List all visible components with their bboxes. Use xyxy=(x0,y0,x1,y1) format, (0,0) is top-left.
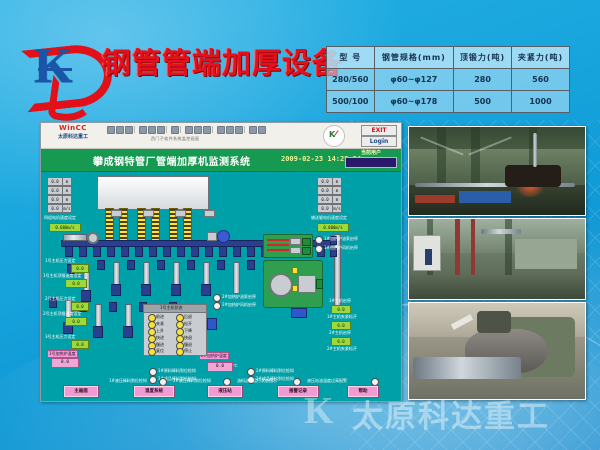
align-icon[interactable] xyxy=(226,126,234,134)
photo-workshop-heating-line xyxy=(408,126,586,216)
label-furnace1-temp: 1号加热炉温度 xyxy=(47,350,78,358)
toolbar-separator xyxy=(180,126,184,133)
value-main-press-2: 0.0 xyxy=(71,302,89,311)
bottom-lamp-label-3: 油料油泵运行状态指示 xyxy=(237,378,277,384)
label-machine2-start: 2#主机启停 xyxy=(329,330,351,336)
pump-indicator xyxy=(292,267,298,274)
gauge-letter: K xyxy=(329,130,335,139)
right-value-1: 0.0 xyxy=(317,177,333,186)
bottom-lamp-label-2: 2#液压棒料到位检知 xyxy=(173,378,211,384)
motor-base xyxy=(207,232,217,241)
hmi-system-title: 攀成钢特管厂管端加厚机监测系统 xyxy=(93,153,251,168)
cylinder-foot xyxy=(93,326,103,338)
photo-pipe-end-upset-closeup xyxy=(408,302,586,400)
lamp-raw-position-1[interactable] xyxy=(149,368,157,376)
cell-model: 500/100 xyxy=(327,91,375,113)
hmi-toolbar: WinCC 太原科达重工 xyxy=(41,123,401,149)
coil-tag xyxy=(143,210,154,217)
lamp-furnace2-fan[interactable] xyxy=(213,302,221,310)
lamp-furnace2-pump[interactable] xyxy=(213,294,221,302)
manifold-line xyxy=(267,244,289,246)
cut-icon[interactable] xyxy=(139,126,147,134)
left-unit-1: m xyxy=(62,177,72,186)
label-furnace2-fan: 2#加热炉风机启停 xyxy=(222,302,256,308)
hydraulic-cylinder xyxy=(233,262,240,294)
valve-block xyxy=(217,260,225,270)
left-value-2: 0.0 xyxy=(47,186,63,195)
pump-outlet xyxy=(316,279,323,289)
lamp-finished-position-1[interactable] xyxy=(149,376,157,384)
unit-furnace2-temp: ℃ xyxy=(233,363,238,369)
wincc-wordmark: WinCC xyxy=(44,124,102,133)
panel-row-1-b: 松开 xyxy=(184,321,192,327)
panel-row-0-b: 后退 xyxy=(184,314,192,320)
cylinder-foot xyxy=(81,290,91,302)
th-model: 型 号 xyxy=(327,47,375,69)
furnace-vessel xyxy=(97,176,209,210)
left-value-3: 0.0 xyxy=(47,195,63,204)
valve-block xyxy=(109,302,117,312)
valve-block xyxy=(247,260,255,270)
cell-upset-force: 500 xyxy=(454,91,512,113)
bottom-lamp-label-1: 1#液压棒料到位检知 xyxy=(109,378,147,384)
cell-model: 280/560 xyxy=(327,69,375,91)
drive-motor xyxy=(217,230,230,243)
lamp-furnace1-pump[interactable] xyxy=(315,236,323,244)
left-panel-label: 四组电机速度设定 xyxy=(44,215,76,221)
hmi-scada-screenshot: WinCC 太原科达重工 xyxy=(40,122,402,402)
panel-row-2-a: 上升 xyxy=(156,328,164,334)
cylinder-foot xyxy=(201,284,211,296)
login-button[interactable]: Login xyxy=(361,136,397,147)
left-panel-value: 0.000m/s xyxy=(49,223,81,232)
cylinder-foot xyxy=(141,284,151,296)
left-value-1: 0.0 xyxy=(47,177,63,186)
toolbar-separator xyxy=(244,126,248,133)
pump-indicator xyxy=(292,285,298,292)
roller-support xyxy=(93,246,101,257)
value-machine2: 0.0 xyxy=(331,321,351,330)
manifold-line xyxy=(267,239,289,241)
hmi-title-bar: 攀成钢特管厂管端加厚机监测系统 2009-02-23 14:29:24 当前用户 xyxy=(41,149,401,172)
current-user-label: 当前用户 xyxy=(345,149,397,157)
value-furnace1-temp: 0.0 xyxy=(51,358,79,368)
specification-table: 型 号 钢管规格(mm) 顶锻力(吨) 夹紧力(吨) 280/560 φ60~φ… xyxy=(326,46,570,113)
exit-button[interactable]: EXIT xyxy=(361,125,397,136)
panel-title: 1号主机状态 xyxy=(160,305,183,311)
manifold-line xyxy=(267,249,289,251)
roller-support xyxy=(247,246,255,257)
value-upset-speed-2: 0.0 xyxy=(65,317,87,326)
th-clamp-force: 夹紧力(吨) xyxy=(512,47,570,69)
bottom-lamp-label-4: 液压站油温度过高报警 xyxy=(307,378,347,384)
roller-support xyxy=(177,246,185,257)
manifold-port xyxy=(302,238,311,246)
coil-tag xyxy=(111,210,122,217)
pump-wheel xyxy=(269,273,293,297)
panel-row-5-a: 复位 xyxy=(156,348,164,354)
nav-button-temp[interactable]: 温度系统 xyxy=(133,385,175,398)
right-unit-2: m xyxy=(332,186,342,195)
company-logo-icon: K xyxy=(18,28,102,94)
valve-block xyxy=(97,260,105,270)
print-icon[interactable] xyxy=(125,126,133,134)
right-unit-1: m xyxy=(332,177,342,186)
cylinder-foot xyxy=(123,326,133,338)
toolbar-separator xyxy=(166,126,170,133)
right-panel-value: 0.000m/s xyxy=(317,223,349,232)
cell-clamp-force: 1000 xyxy=(512,91,570,113)
panel-row-3-b: 快退 xyxy=(184,335,192,341)
paste-icon[interactable] xyxy=(157,126,165,134)
valve-block xyxy=(187,260,195,270)
toolbar-caption: 西门子软件系统监控画面 xyxy=(151,136,199,142)
open-icon[interactable] xyxy=(107,126,115,134)
text-icon[interactable] xyxy=(185,126,193,134)
roller-support xyxy=(205,246,213,257)
roller-support xyxy=(65,246,73,257)
value-machine1: 0.0 xyxy=(331,305,351,314)
cell-upset-force: 280 xyxy=(454,69,512,91)
left-unit-4: m/s xyxy=(62,204,72,213)
coil-tag xyxy=(204,210,215,217)
roller-support xyxy=(219,246,227,257)
left-unit-2: m xyxy=(62,186,72,195)
panel-row-5-b: 停止 xyxy=(184,348,192,354)
th-upset-force: 顶锻力(吨) xyxy=(454,47,512,69)
right-value-3: 0.0 xyxy=(317,195,333,204)
panel-row-1-a: 夹紧 xyxy=(156,321,164,327)
status-lamp[interactable] xyxy=(176,348,184,356)
wincc-subtitle: 太原科达重工 xyxy=(44,133,102,141)
label-furnace1-pump: 1#加热炉油泵启停 xyxy=(324,236,358,242)
nav-button-hydraulic[interactable]: 液压站 xyxy=(207,385,243,398)
manifold-valve xyxy=(290,238,301,245)
lamp-raw-position-2[interactable] xyxy=(247,368,255,376)
help-icon[interactable] xyxy=(258,126,266,134)
roller-support xyxy=(163,246,171,257)
panel-connector xyxy=(207,318,217,330)
panel-row-0-a: 前进 xyxy=(156,314,164,320)
nav-button-alarm[interactable]: 报警记录 xyxy=(277,385,319,398)
pipe-workpiece xyxy=(63,234,87,241)
logo-letter-k: K xyxy=(34,40,74,90)
toolbar-separator xyxy=(134,126,138,133)
table-row: 500/100 φ60~φ178 500 1000 xyxy=(327,91,570,113)
valve-manifold[interactable] xyxy=(263,234,313,258)
cell-pipe-spec: φ60~φ178 xyxy=(374,91,453,113)
copy-icon[interactable] xyxy=(148,126,156,134)
cell-pipe-spec: φ60~φ127 xyxy=(374,69,453,91)
value-furnace2-temp: 0.0 xyxy=(207,362,233,372)
roller-support xyxy=(121,246,129,257)
status-lamp[interactable] xyxy=(148,348,156,356)
roller-wheel xyxy=(87,232,99,244)
panel-row-2-b: 下降 xyxy=(184,328,192,334)
photo-workshop-hydraulic-station xyxy=(408,218,586,300)
manifold-valve xyxy=(290,247,301,254)
zoom-icon[interactable] xyxy=(194,126,202,134)
layer-icon[interactable] xyxy=(235,126,243,134)
panel-row-3-a: 快进 xyxy=(156,335,164,341)
cell-clamp-force: 560 xyxy=(512,69,570,91)
page-title: 钢管管端加厚设备 xyxy=(102,40,342,82)
roller-support xyxy=(107,246,115,257)
grid-icon[interactable] xyxy=(217,126,225,134)
label-raw-position-2: 2#原料棒料到位检知 xyxy=(256,368,294,374)
table-header-row: 型 号 钢管规格(mm) 顶锻力(吨) 夹紧力(吨) xyxy=(327,47,570,69)
label-machine1-clamp: 1#主机夹紧松开 xyxy=(327,314,357,320)
label-furnace2-pump: 2#加热炉油泵启停 xyxy=(222,294,256,300)
wincc-logo: WinCC 太原科达重工 xyxy=(44,124,102,146)
gauge-icon: K xyxy=(323,125,345,147)
manifold-port xyxy=(302,247,311,255)
cylinder-foot xyxy=(111,284,121,296)
nav-button-main[interactable]: 主画面 xyxy=(63,385,99,398)
undo-icon[interactable] xyxy=(171,126,179,134)
left-unit-3: m xyxy=(62,195,72,204)
roller-support xyxy=(79,246,87,257)
toolbar-separator xyxy=(212,126,216,133)
right-value-2: 0.0 xyxy=(317,186,333,195)
label-machine1-start: 1#主机启停 xyxy=(329,298,351,304)
current-user-group: 当前用户 xyxy=(345,149,397,168)
value-main-press-3: 0.0 xyxy=(71,340,89,349)
station-cooler xyxy=(291,308,307,318)
pump-tank xyxy=(298,275,316,293)
left-value-4: 0.0 xyxy=(47,204,63,213)
roller-support xyxy=(191,246,199,257)
toolbar-icon-strip[interactable] xyxy=(107,125,322,134)
current-user-field[interactable] xyxy=(345,157,397,168)
slide-header: K 钢管管端加厚设备 xyxy=(18,28,338,94)
roller-support xyxy=(135,246,143,257)
cylinder-foot xyxy=(171,284,181,296)
right-unit-4: m/s xyxy=(332,204,342,213)
label-furnace1-fan: 1#加热炉风机启停 xyxy=(324,245,358,251)
settings-icon[interactable] xyxy=(249,126,257,134)
roller-support xyxy=(149,246,157,257)
roller-support xyxy=(233,246,241,257)
right-panel-label: 输送辊电机速度设定 xyxy=(311,215,347,221)
th-pipe-spec: 钢管规格(mm) xyxy=(374,47,453,69)
label-raw-position-1: 1#原料棒料到位检知 xyxy=(158,368,196,374)
valve-block xyxy=(127,260,135,270)
label-machine2-clamp: 2#主机夹紧松开 xyxy=(327,346,357,352)
right-unit-3: m xyxy=(332,195,342,204)
user-icon[interactable] xyxy=(203,126,211,134)
logo-bar xyxy=(38,68,72,71)
value-main-press-1: 0.0 xyxy=(71,264,89,273)
machine-status-panel[interactable]: 1号主机状态 前进 后退 夹紧 松开 上升 下降 快进 快退 慢进 xyxy=(143,304,207,356)
save-icon[interactable] xyxy=(116,126,124,134)
value-machine3: 0.0 xyxy=(331,337,351,346)
hydraulic-station[interactable] xyxy=(263,260,323,308)
lamp-furnace1-fan[interactable] xyxy=(315,245,323,253)
hmi-process-diagram[interactable]: 0.0 m 0.0 m 0.0 m 0.0 m/s 四组电机速度设定 0.000… xyxy=(41,172,401,402)
table-row: 280/560 φ60~φ127 280 560 xyxy=(327,69,570,91)
value-upset-speed-1: 0.0 xyxy=(65,279,87,288)
presentation-slide: K 钢管管端加厚设备 型 号 钢管规格(mm) 顶锻力(吨) 夹紧力(吨) 28… xyxy=(0,0,600,450)
nav-button-help[interactable]: 帮助 xyxy=(347,385,379,398)
coil-tag xyxy=(175,210,186,217)
right-value-4: 0.0 xyxy=(317,204,333,213)
valve-block xyxy=(157,260,165,270)
